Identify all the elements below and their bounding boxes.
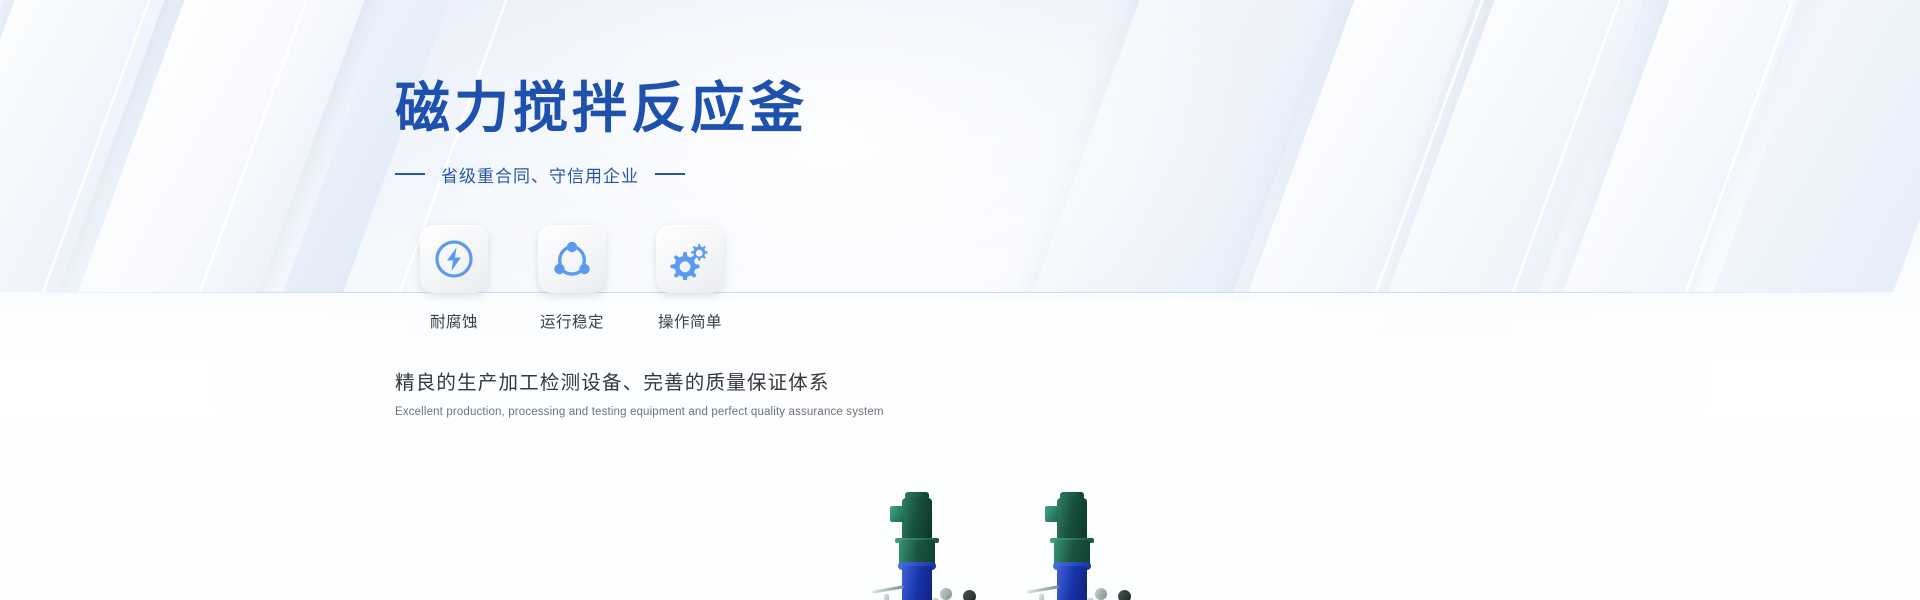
banner-content: 磁力搅拌反应釜 省级重合同、守信用企业 耐腐蚀 bbox=[395, 78, 915, 418]
valve-knob-icon bbox=[1118, 590, 1131, 600]
reactor-illustration bbox=[840, 60, 1200, 480]
gears-icon bbox=[668, 238, 712, 280]
network-nodes-icon bbox=[551, 238, 593, 280]
pressure-gauge-icon bbox=[1095, 588, 1107, 600]
subtitle-text: 省级重合同、守信用企业 bbox=[441, 162, 639, 187]
tagline-chinese: 精良的生产加工检测设备、完善的质量保证体系 bbox=[395, 366, 915, 395]
feature-item-simple-operation[interactable]: 操作简单 bbox=[631, 225, 749, 332]
tagline-english: Excellent production, processing and tes… bbox=[395, 406, 915, 418]
nozzle-pipe bbox=[872, 585, 904, 594]
pressure-gauge-icon bbox=[940, 588, 952, 600]
feature-label: 耐腐蚀 bbox=[395, 310, 513, 332]
page-title: 磁力搅拌反应釜 bbox=[395, 78, 915, 140]
motor-terminal-box bbox=[890, 506, 904, 522]
feature-label: 操作简单 bbox=[631, 310, 749, 332]
feature-item-corrosion-resistant[interactable]: 耐腐蚀 bbox=[395, 225, 513, 332]
feature-tile bbox=[538, 225, 606, 293]
motor-icon bbox=[1057, 498, 1087, 542]
lightning-bolt-icon bbox=[433, 238, 475, 280]
nozzle-pipe bbox=[884, 594, 889, 600]
dash-right-icon bbox=[655, 173, 685, 175]
nozzle-cluster bbox=[862, 578, 982, 600]
subtitle-row: 省级重合同、守信用企业 bbox=[395, 162, 915, 187]
feature-list: 耐腐蚀 运行稳定 bbox=[395, 225, 915, 332]
nozzle-cluster bbox=[1017, 578, 1137, 600]
nozzle-pipe bbox=[1027, 585, 1059, 594]
motor-terminal-box bbox=[1045, 506, 1059, 522]
motor-icon bbox=[902, 498, 932, 542]
nozzle-pipe bbox=[1039, 594, 1044, 600]
product-banner: 磁力搅拌反应釜 省级重合同、守信用企业 耐腐蚀 bbox=[0, 0, 1920, 600]
feature-label: 运行稳定 bbox=[513, 310, 631, 332]
dash-left-icon bbox=[395, 173, 425, 175]
feature-tile bbox=[420, 225, 488, 293]
feature-item-stable-operation[interactable]: 运行稳定 bbox=[513, 225, 631, 332]
valve-knob-icon bbox=[963, 590, 976, 600]
feature-tile bbox=[656, 225, 724, 293]
